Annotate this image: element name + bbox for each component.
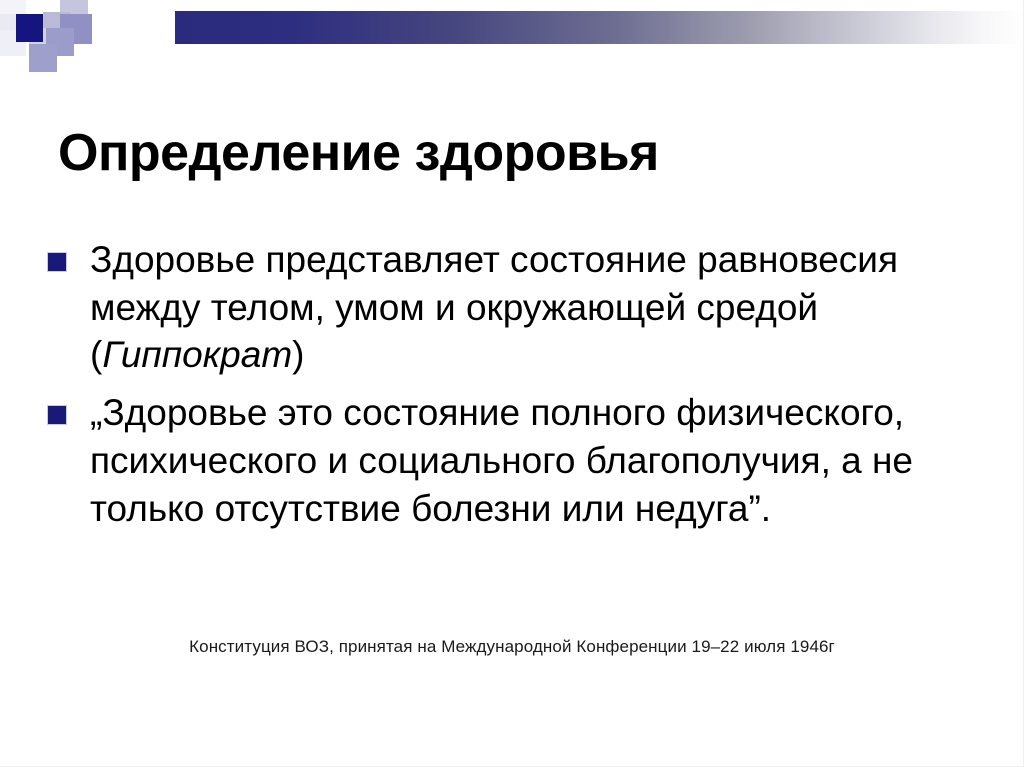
square-bullet-icon — [47, 405, 67, 425]
bullet-list: Здоровье представляет состояние равновес… — [42, 236, 992, 542]
citation-source: Конституция ВОЗ, принятая на Международн… — [0, 637, 1024, 657]
list-item-text-tail: ) — [292, 334, 304, 375]
square-mid-lavender-5 — [29, 44, 57, 72]
list-item-attribution: Гиппократ — [102, 334, 292, 375]
list-item: Здоровье представляет состояние равновес… — [42, 236, 992, 379]
header-decoration — [0, 0, 1024, 70]
list-item-text-lead: „Здоровье это состояние полного физическ… — [90, 392, 913, 528]
list-item-text: Здоровье представляет состояние равновес… — [90, 236, 992, 379]
square-bullet-icon — [47, 252, 67, 272]
header-gradient-bar — [175, 11, 1024, 44]
slide-canvas: Определение здоровья Здоровье представля… — [0, 0, 1024, 767]
list-item-text: „Здоровье это состояние полного физическ… — [90, 389, 992, 532]
page-title: Определение здоровья — [58, 123, 958, 183]
square-dark-navy — [16, 14, 43, 42]
list-item: „Здоровье это состояние полного физическ… — [42, 389, 992, 532]
